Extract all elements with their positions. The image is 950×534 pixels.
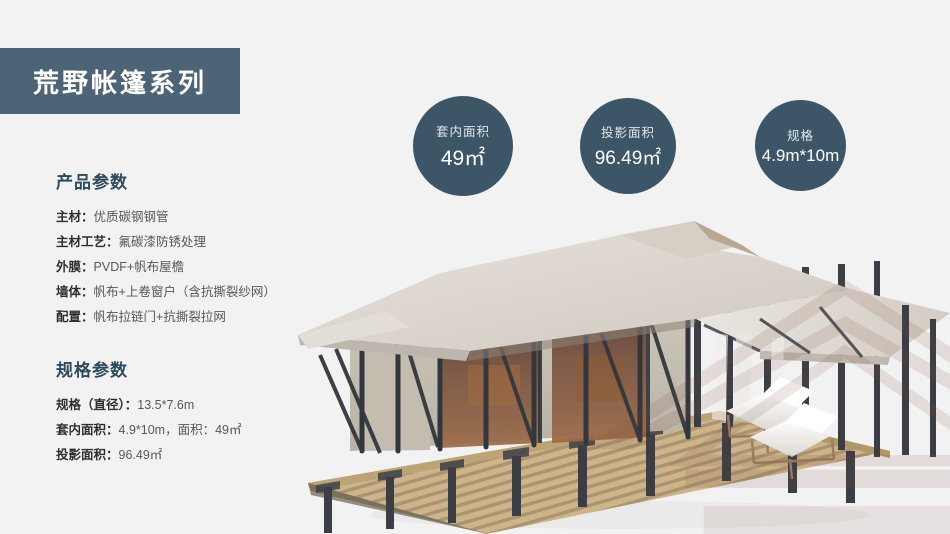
spec-value: PVDF+帆布屋檐	[94, 260, 185, 274]
badge-value: 49㎡	[441, 142, 485, 172]
product-render-image	[290, 215, 950, 534]
spec-label: 规格（直径）：	[56, 398, 137, 412]
spec-label: 主材：	[56, 210, 94, 224]
spec-label: 主材工艺：	[56, 235, 119, 249]
spec-value: 96.49㎡	[119, 448, 163, 462]
spec-value: 优质碳钢钢管	[94, 210, 169, 224]
badge-value: 4.9m*10m	[762, 146, 839, 166]
stat-badge-projected-area: 投影面积 96.49㎡	[580, 98, 676, 194]
spec-label: 套内面积：	[56, 423, 119, 437]
spec-label: 投影面积：	[56, 448, 119, 462]
spec-label: 配置：	[56, 310, 94, 324]
spec-label: 墙体：	[56, 285, 94, 299]
badge-label: 套内面积	[436, 121, 490, 140]
spec-value: 4.9*10m，面积：49㎡	[119, 423, 242, 437]
stat-badge-interior-area: 套内面积 49㎡	[413, 96, 513, 196]
spec-value: 帆布+上卷窗户（含抗撕裂纱网）	[94, 285, 276, 299]
badge-value: 96.49㎡	[595, 143, 662, 170]
spec-value: 13.5*7.6m	[137, 398, 194, 412]
spec-value: 帆布拉链门+抗撕裂拉网	[94, 310, 226, 324]
product-spec-page: 荒野帐篷系列 产品参数 主材：优质碳钢钢管 主材工艺：氟碳漆防锈处理 外膜：PV…	[0, 0, 950, 534]
badge-label: 投影面积	[601, 122, 655, 141]
page-title: 荒野帐篷系列	[33, 63, 207, 100]
stat-badge-dimensions: 规格 4.9m*10m	[755, 100, 846, 191]
spec-label: 外膜：	[56, 260, 94, 274]
spec-value: 氟碳漆防锈处理	[119, 235, 207, 249]
badge-label: 规格	[787, 125, 814, 144]
section-heading: 产品参数	[56, 168, 356, 193]
title-banner: 荒野帐篷系列	[0, 48, 240, 114]
